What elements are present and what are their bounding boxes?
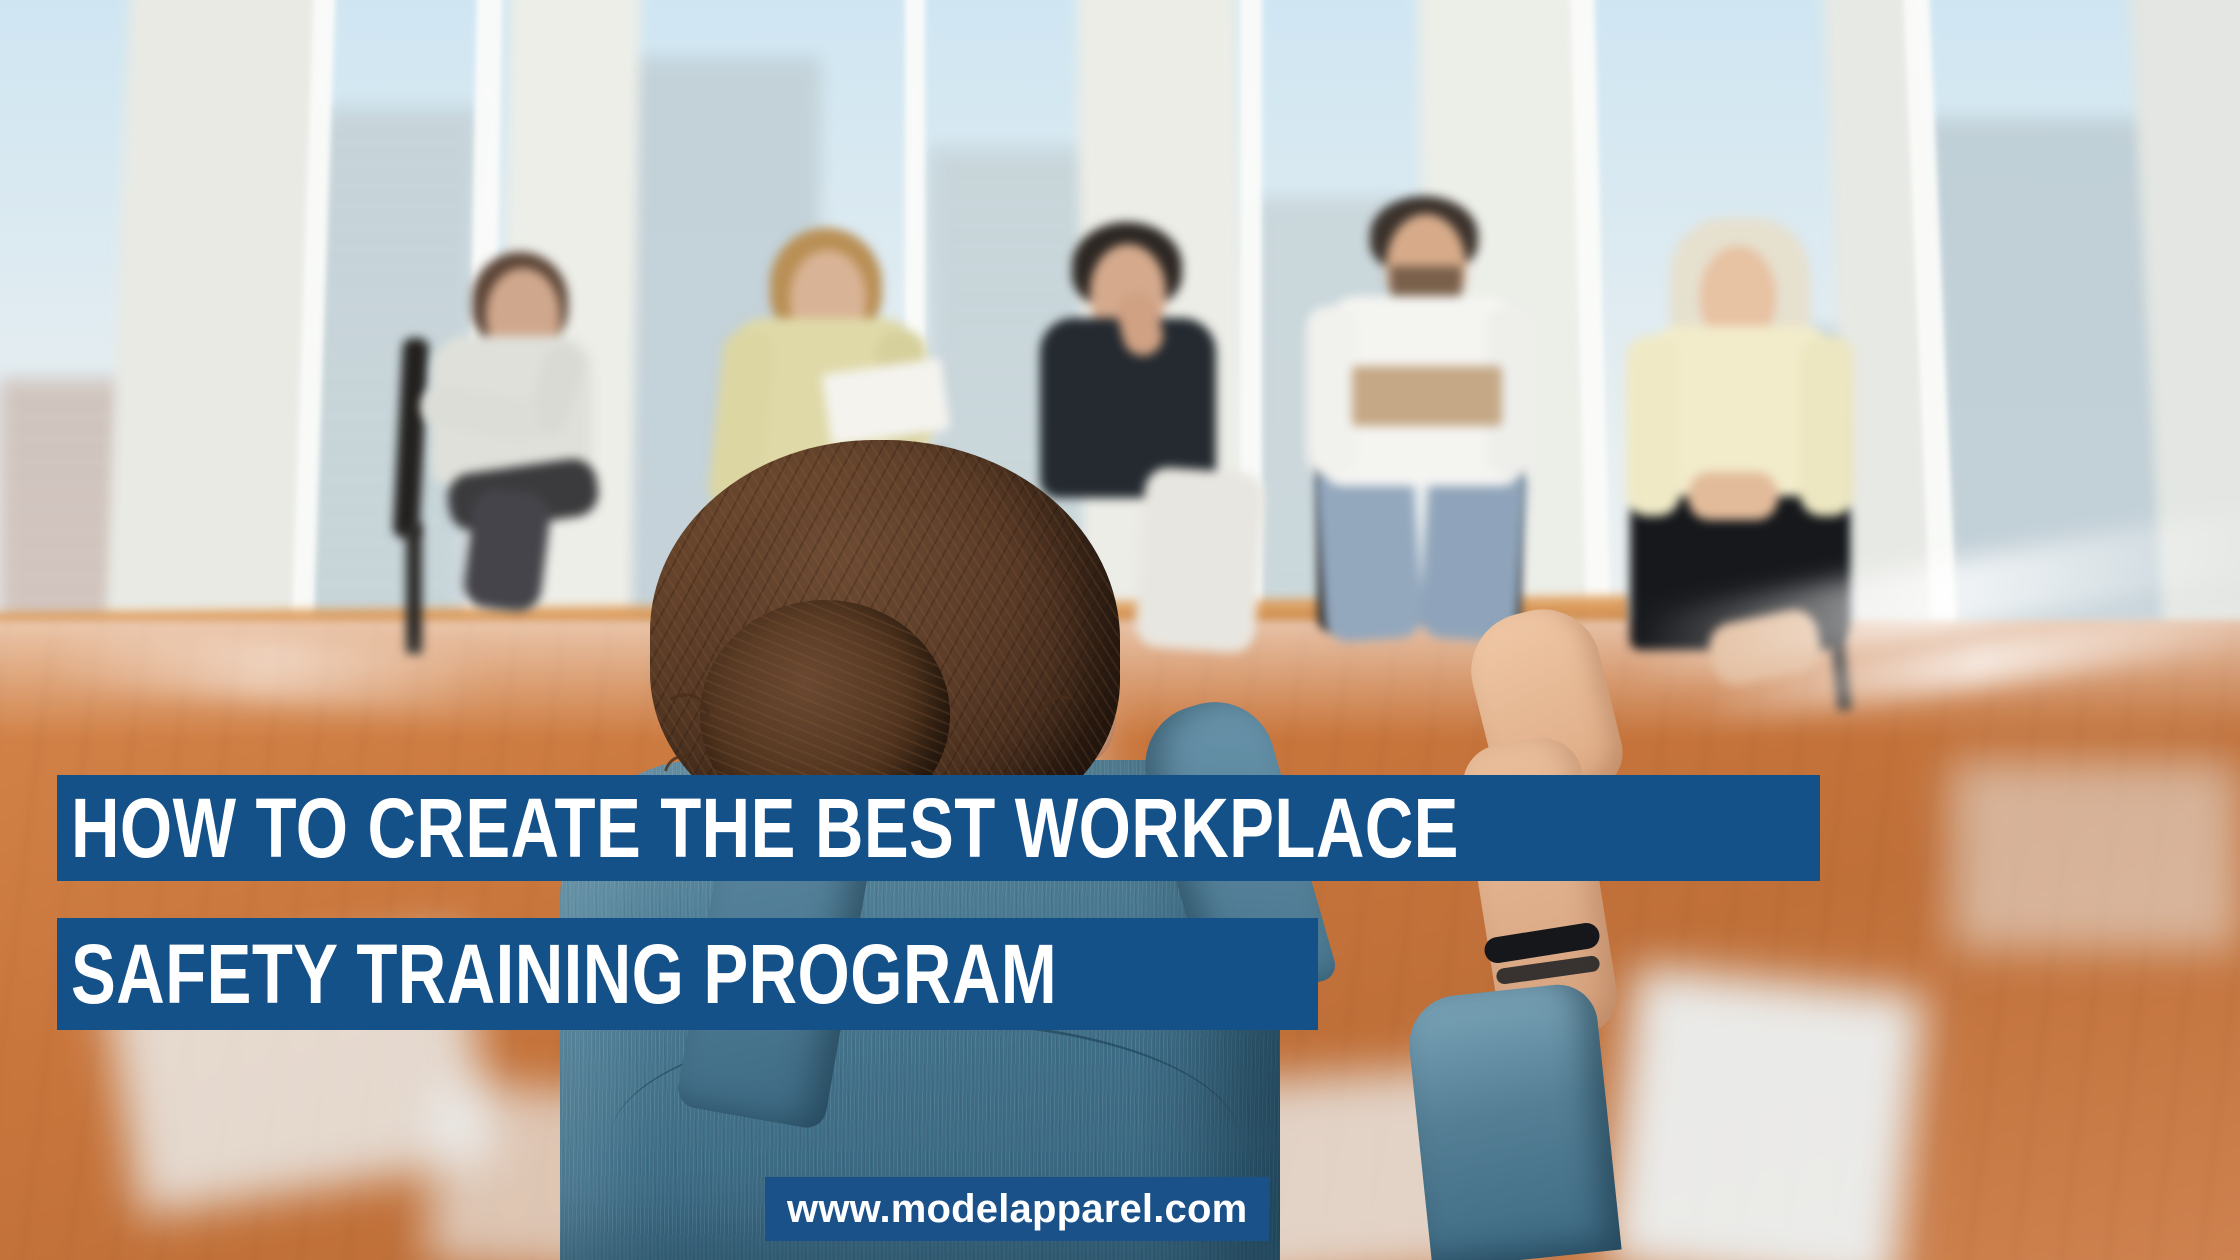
banner-graphic: HOW TO CREATE THE BEST WORKPLACE SAFETY … [0, 0, 2240, 1260]
background-photo [0, 0, 2240, 1260]
website-url-badge[interactable]: www.modelapparel.com [765, 1177, 1269, 1241]
headline-line-1-text: HOW TO CREATE THE BEST WORKPLACE [71, 786, 1459, 870]
denim-sleeve [1404, 981, 1621, 1260]
headline-line-2-text: SAFETY TRAINING PROGRAM [71, 932, 1057, 1016]
headline-line-1: HOW TO CREATE THE BEST WORKPLACE [57, 775, 1820, 881]
facilitator [0, 0, 2240, 1260]
headline-line-2: SAFETY TRAINING PROGRAM [57, 918, 1318, 1030]
website-url-text: www.modelapparel.com [787, 1187, 1247, 1232]
